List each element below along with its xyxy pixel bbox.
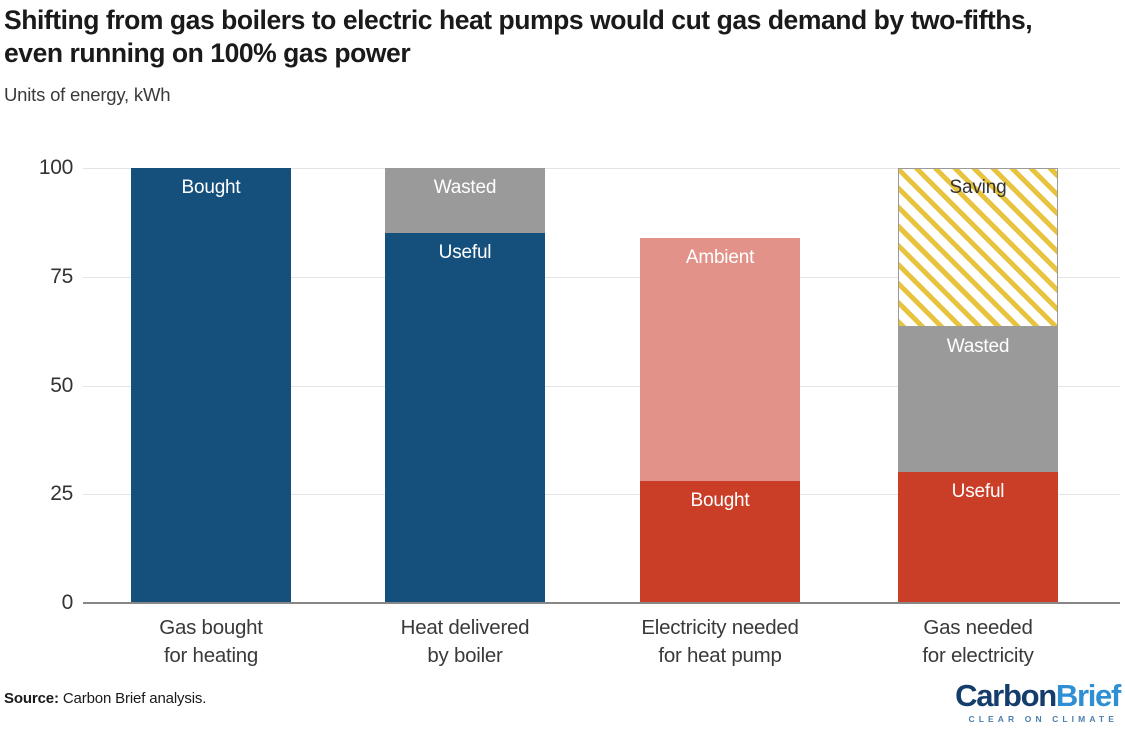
bar-segment-label: Useful (439, 233, 492, 264)
y-tick-label-0: 0 (11, 591, 73, 615)
bar-1[interactable]: Bought (131, 168, 291, 603)
x-axis-label-line: for heating (91, 642, 331, 670)
bar-4[interactable]: SavingWastedUseful (898, 168, 1058, 603)
x-axis-label-4: Gas neededfor electricity (858, 614, 1098, 670)
logo-wordmark: CarbonBrief (955, 680, 1120, 711)
bar-2[interactable]: WastedUseful (385, 168, 545, 603)
x-axis-label-1: Gas boughtfor heating (91, 614, 331, 670)
bar-segment-label: Useful (952, 472, 1005, 503)
logo-brief-text: Brief (1056, 678, 1120, 713)
carbonbrief-logo: CarbonBrief CLEAR ON CLIMATE (955, 680, 1120, 724)
bar-segment-ambient[interactable]: Ambient (640, 238, 800, 482)
x-axis-label-3: Electricity neededfor heat pump (600, 614, 840, 670)
bar-segment-bought[interactable]: Bought (131, 168, 291, 603)
x-axis-label-line: by boiler (345, 642, 585, 670)
bar-segment-label: Saving (950, 169, 1007, 199)
bar-segment-wasted[interactable]: Wasted (385, 168, 545, 233)
bar-segment-label: Ambient (686, 238, 754, 269)
source-note: Source: Carbon Brief analysis. (4, 690, 206, 707)
bar-segment-label: Bought (690, 481, 749, 512)
x-axis-label-line: for electricity (858, 642, 1098, 670)
plot-area: 0255075100 BoughtWastedUsefulAmbientBoug… (83, 168, 1120, 603)
x-axis-label-line: Gas bought (91, 614, 331, 642)
y-tick-label-25: 25 (11, 482, 73, 506)
y-tick-label-75: 75 (11, 265, 73, 289)
x-axis-line (83, 602, 1120, 604)
bar-segment-useful[interactable]: Useful (898, 472, 1058, 603)
x-axis-label-line: Gas needed (858, 614, 1098, 642)
y-tick-label-50: 50 (11, 374, 73, 398)
bar-segment-label: Bought (181, 168, 240, 199)
x-axis-label-line: Electricity needed (600, 614, 840, 642)
chart-page: Shifting from gas boilers to electric he… (0, 0, 1125, 732)
logo-carbon-text: Carbon (955, 678, 1056, 713)
logo-tagline: CLEAR ON CLIMATE (955, 714, 1120, 724)
chart-subtitle: Units of energy, kWh (4, 84, 170, 106)
x-axis-label-2: Heat deliveredby boiler (345, 614, 585, 670)
bar-segment-label: Wasted (434, 168, 497, 199)
bar-segment-bought[interactable]: Bought (640, 481, 800, 603)
bar-segment-useful[interactable]: Useful (385, 233, 545, 603)
y-tick-label-100: 100 (11, 156, 73, 180)
bar-3[interactable]: AmbientBought (640, 238, 800, 603)
source-text: Carbon Brief analysis. (63, 690, 206, 707)
x-axis-label-line: for heat pump (600, 642, 840, 670)
source-label: Source: (4, 690, 59, 707)
x-axis-label-line: Heat delivered (345, 614, 585, 642)
chart-title: Shifting from gas boilers to electric he… (4, 4, 1074, 71)
bar-segment-saving[interactable]: Saving (898, 168, 1058, 327)
bar-segment-wasted[interactable]: Wasted (898, 327, 1058, 473)
bar-segment-label: Wasted (947, 327, 1010, 358)
